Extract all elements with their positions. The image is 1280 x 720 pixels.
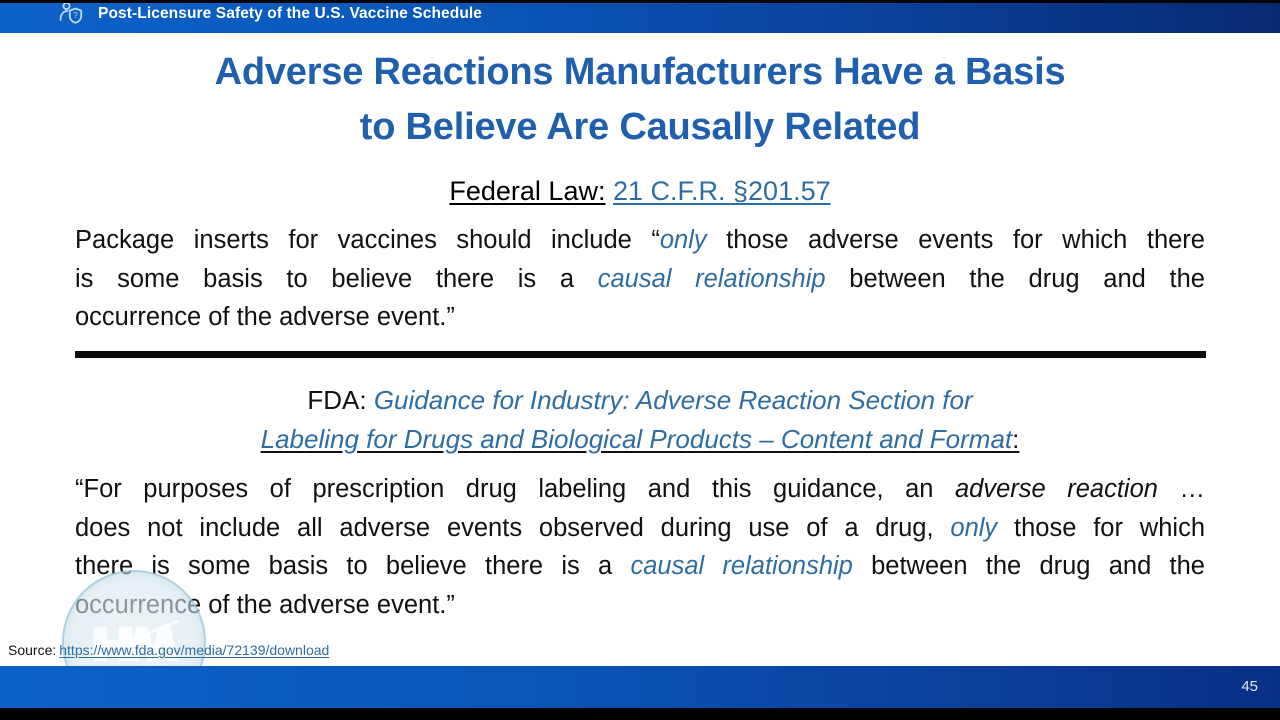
slide-header-bar: ? Post-Licensure Safety of the U.S. Vacc… <box>0 0 1280 33</box>
quote-one-line-2-text-b: between the drug and the <box>826 265 1205 293</box>
fda-guidance-line-1: FDA: Guidance for Industry: Adverse Reac… <box>90 381 1190 420</box>
letterbox-bottom <box>0 708 1280 720</box>
federal-law-subtitle: Federal Law: 21 C.F.R. §201.57 <box>90 175 1190 208</box>
slide-canvas: Adverse Reactions Manufacturers Have a B… <box>0 33 1280 666</box>
federal-law-citation-link[interactable]: 21 C.F.R. §201.57 <box>613 176 831 206</box>
letterbox-top <box>0 0 1280 3</box>
fda-guidance-heading: FDA: Guidance for Industry: Adverse Reac… <box>90 381 1190 459</box>
quote-one-emphasis-causal: causal relationship <box>598 265 826 293</box>
fda-guidance-title-colon: : <box>1012 424 1019 454</box>
quote-block-fda-guidance: “For purposes of prescription drug label… <box>75 470 1205 624</box>
quote-block-federal-law: Package inserts for vaccines should incl… <box>75 221 1205 337</box>
quote-one-line-3: occurrence of the adverse event.” <box>75 298 1205 337</box>
page-title-line-1: Adverse Reactions Manufacturers Have a B… <box>90 45 1190 100</box>
quote-two-emphasis-adverse-reaction: adverse reaction <box>955 475 1158 503</box>
fda-guidance-title-part-2: Labeling for Drugs and Biological Produc… <box>261 424 1013 454</box>
quote-two-line-1-text-a: “For purposes of prescription drug label… <box>75 475 955 503</box>
svg-text:?: ? <box>73 11 78 20</box>
quote-one-emphasis-only: only <box>660 226 707 254</box>
quote-one-line-1: Package inserts for vaccines should incl… <box>75 221 1205 260</box>
fda-guidance-line-2[interactable]: Labeling for Drugs and Biological Produc… <box>90 420 1190 459</box>
horizontal-divider <box>75 351 1206 358</box>
quote-one-line-1-text-b: those adverse events for which there <box>707 226 1205 254</box>
federal-law-label: Federal Law: <box>449 176 605 206</box>
header-title: Post-Licensure Safety of the U.S. Vaccin… <box>98 5 482 23</box>
source-label: Source: <box>8 642 56 658</box>
quote-two-line-1-text-b: … <box>1158 475 1205 503</box>
quote-two-line-2: does not include all adverse events obse… <box>75 509 1205 548</box>
quote-two-line-3-text-b: between the drug and the <box>853 552 1205 580</box>
presentation-slide: ? Post-Licensure Safety of the U.S. Vacc… <box>0 0 1280 720</box>
page-title: Adverse Reactions Manufacturers Have a B… <box>90 45 1190 155</box>
slide-footer-bar: 45 <box>0 666 1280 708</box>
quote-two-line-3: there is some basis to believe there is … <box>75 547 1205 586</box>
fda-label: FDA: <box>307 385 366 415</box>
quote-two-line-1: “For purposes of prescription drug label… <box>75 470 1205 509</box>
quote-two-emphasis-only: only <box>950 514 997 542</box>
quote-two-line-2-text-b: those for which <box>997 514 1205 542</box>
source-url-link[interactable]: https://www.fda.gov/media/72139/download <box>59 642 329 658</box>
quote-two-emphasis-causal: causal relationship <box>630 552 852 580</box>
quote-one-line-2-text-a: is some basis to believe there is a <box>75 265 598 293</box>
source-citation: Source:https://www.fda.gov/media/72139/d… <box>8 642 329 658</box>
fda-guidance-title-part-1: Guidance for Industry: Adverse Reaction … <box>374 385 973 415</box>
page-number: 45 <box>1241 678 1258 695</box>
page-title-line-2: to Believe Are Causally Related <box>90 100 1190 155</box>
quote-two-line-3-text-a: there is some basis to believe there is … <box>75 552 630 580</box>
quote-two-line-4: occurrence of the adverse event.” <box>75 586 1205 625</box>
quote-one-line-1-text-a: Package inserts for vaccines should incl… <box>75 226 660 254</box>
quote-one-line-2: is some basis to believe there is a caus… <box>75 260 1205 299</box>
quote-two-line-2-text-a: does not include all adverse events obse… <box>75 514 950 542</box>
person-shield-health-icon: ? <box>56 0 86 29</box>
